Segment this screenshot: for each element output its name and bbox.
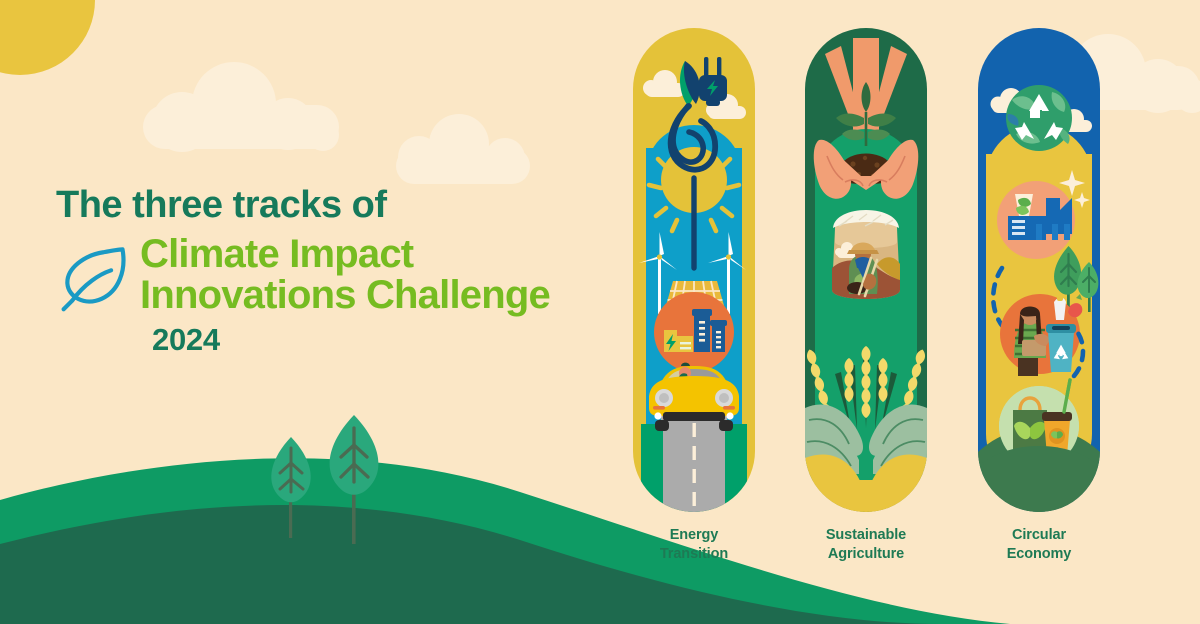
- track-card-sustainable-agriculture[interactable]: Sustainable Agriculture: [805, 28, 927, 563]
- track-label-line-1: Circular: [978, 526, 1100, 545]
- track-card-energy-transition[interactable]: Energy Transition: [633, 28, 755, 563]
- headline-block: The three tracks of Climate Impact Innov…: [56, 186, 616, 358]
- track-label-line-1: Energy: [633, 526, 755, 545]
- brand-line-2: Innovations Challenge: [140, 275, 550, 316]
- track-label-circular-economy: Circular Economy: [978, 526, 1100, 563]
- track-card-circular-economy[interactable]: Circular Economy: [978, 28, 1100, 563]
- track-illustration-sustainable-agriculture: [805, 28, 927, 512]
- track-label-sustainable-agriculture: Sustainable Agriculture: [805, 526, 927, 563]
- leaf-icon: [56, 238, 132, 314]
- tracks-group: Energy Transition: [620, 28, 1120, 588]
- track-label-line-2: Agriculture: [805, 545, 927, 564]
- track-illustration-energy-transition: [633, 28, 755, 512]
- headline-eyebrow: The three tracks of: [56, 186, 616, 226]
- brand-line-1: Climate Impact: [140, 234, 550, 275]
- track-label-line-1: Sustainable: [805, 526, 927, 545]
- recycle-globe-icon: [1006, 85, 1072, 151]
- track-label-energy-transition: Energy Transition: [633, 526, 755, 563]
- track-label-line-2: Economy: [978, 545, 1100, 564]
- poster-canvas: The three tracks of Climate Impact Innov…: [0, 0, 1200, 624]
- headline-year: 2024: [152, 322, 616, 358]
- track-label-line-2: Transition: [633, 545, 755, 564]
- track-illustration-circular-economy: [978, 28, 1100, 512]
- farmer-icon: [847, 243, 879, 297]
